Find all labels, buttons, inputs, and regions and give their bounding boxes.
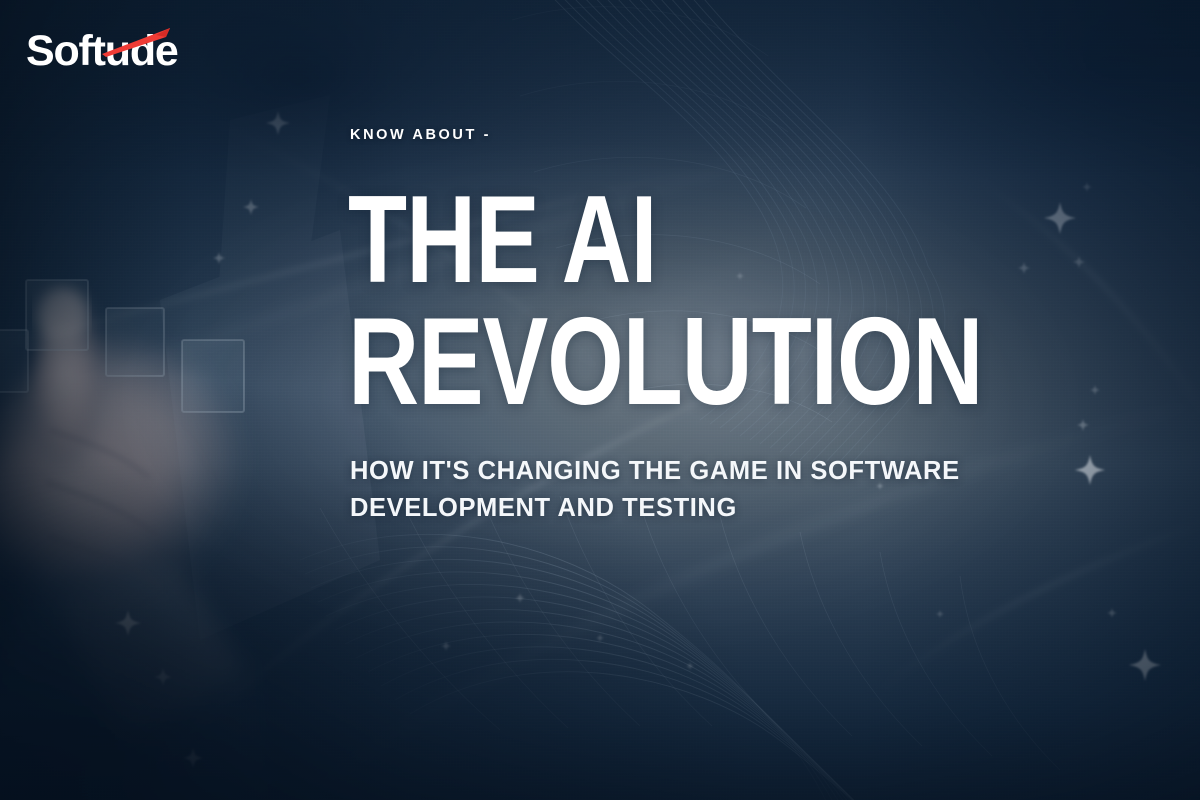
subtitle: HOW IT'S CHANGING THE GAME IN SOFTWARE D… bbox=[350, 453, 1125, 527]
hero-content: KNOW ABOUT - THE AI REVOLUTION HOW IT'S … bbox=[348, 128, 1148, 527]
eyebrow-label: KNOW ABOUT - bbox=[350, 128, 1148, 143]
poster-canvas: Softude KNOW ABOUT - THE AI REVOLUTION H… bbox=[0, 0, 1200, 800]
page-title-line-2: REVOLUTION bbox=[348, 305, 984, 419]
softude-logo[interactable]: Softude bbox=[26, 22, 236, 80]
logo-wordmark: Softude bbox=[26, 22, 236, 80]
page-title-line-1: THE AI bbox=[348, 183, 972, 297]
